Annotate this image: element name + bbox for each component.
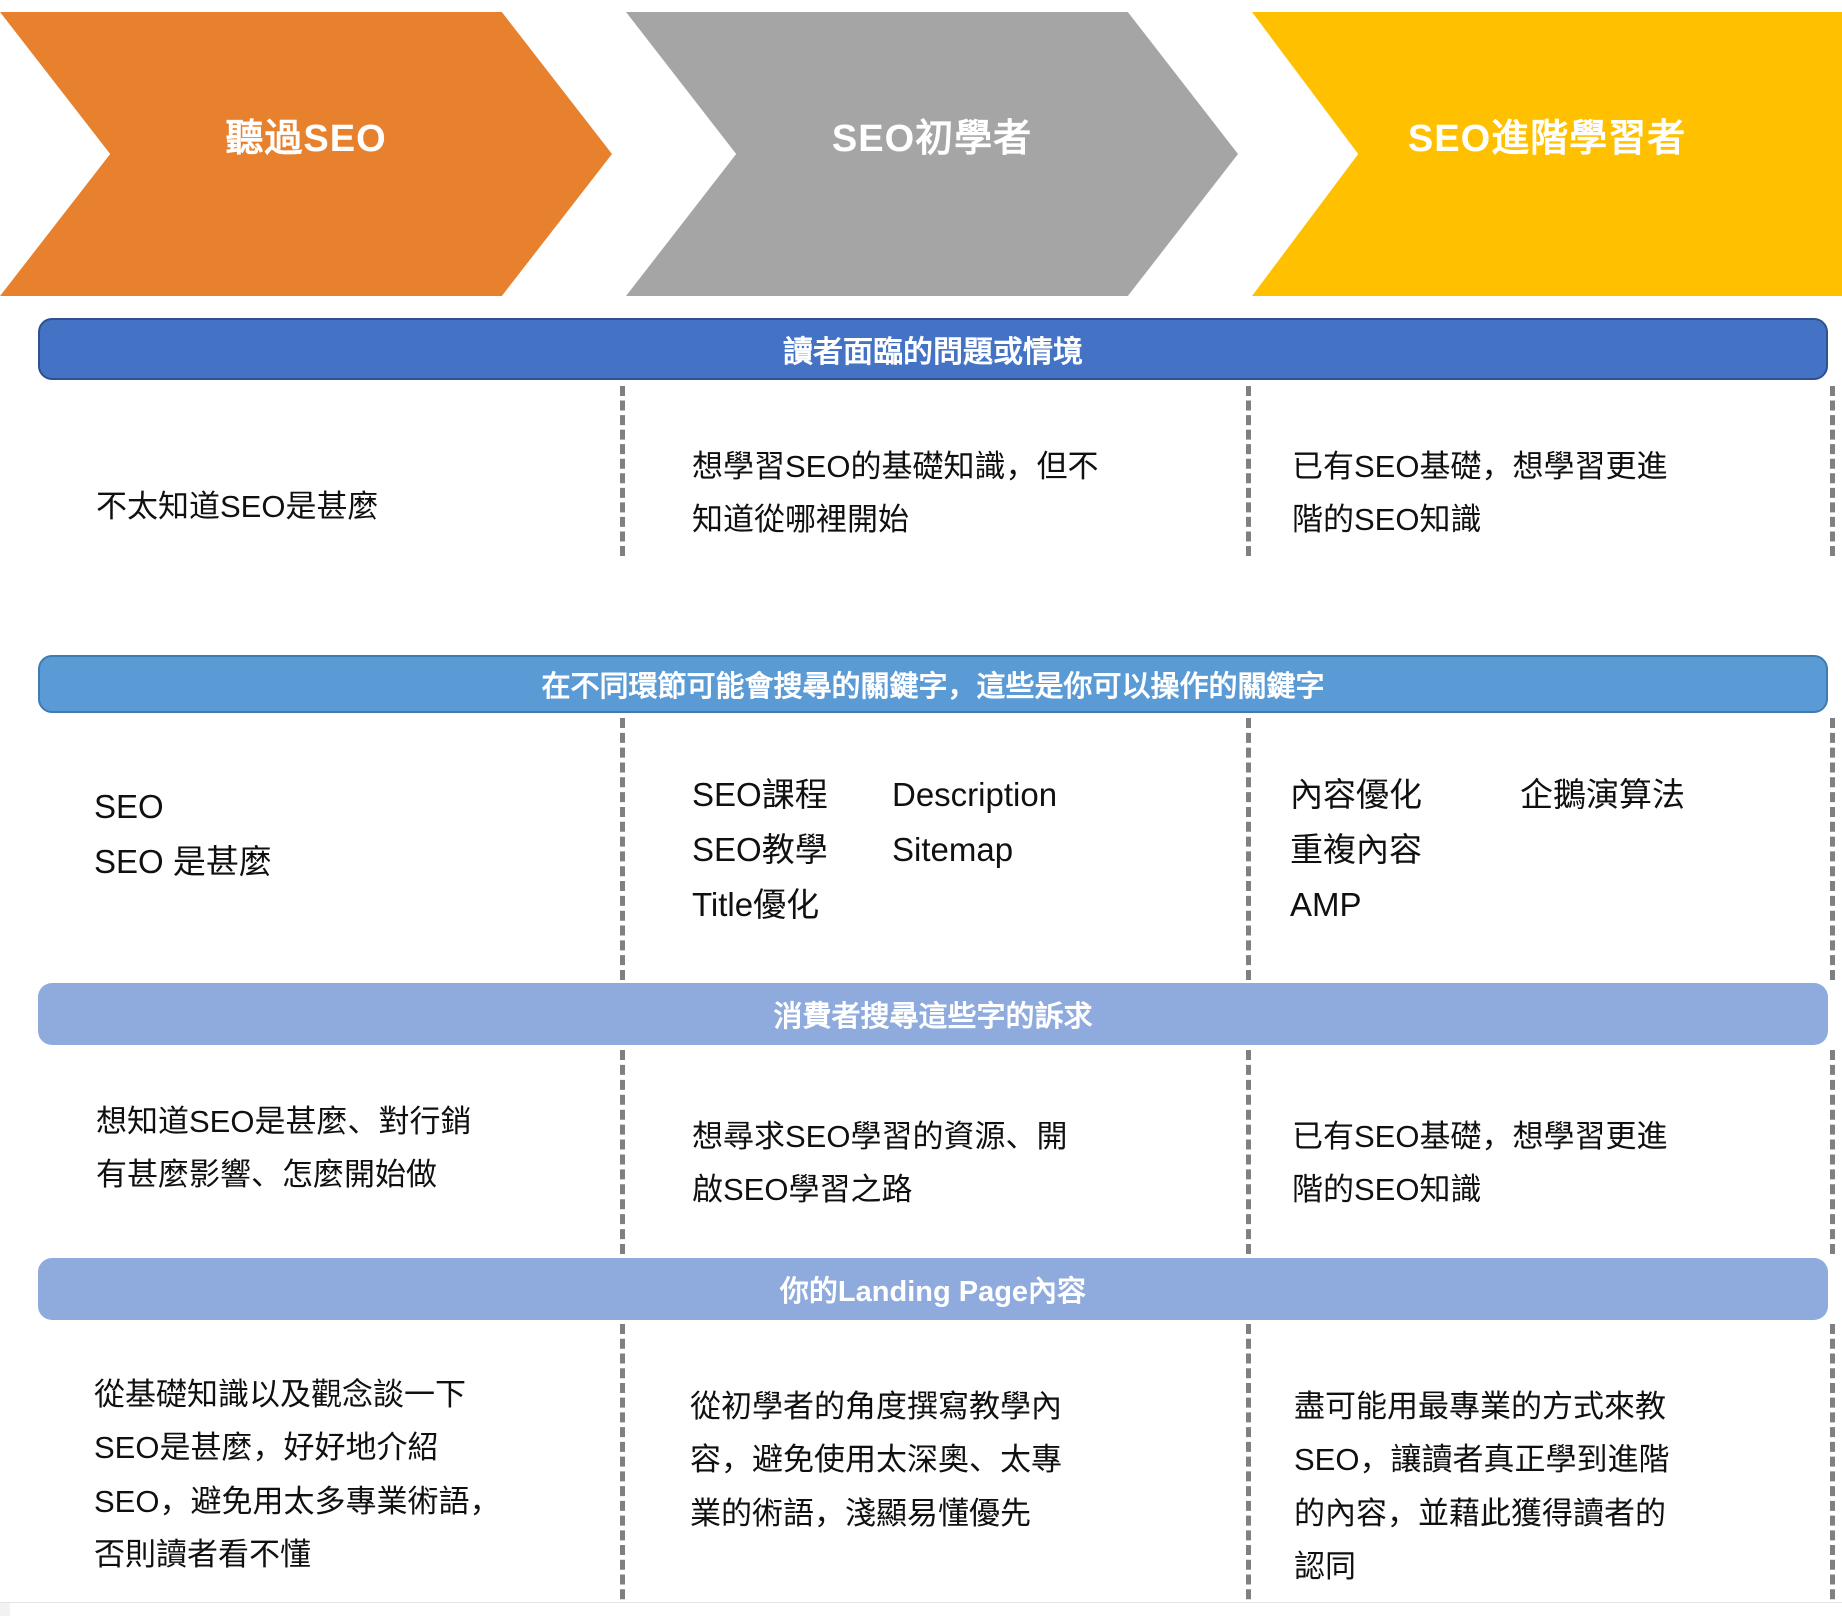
stage-chevron-1: 聽過SEO xyxy=(0,12,612,296)
cell-line: 容，避免使用太深奧、太專 xyxy=(690,1433,1246,1486)
column-divider xyxy=(620,718,625,980)
cell-line: 已有SEO基礎，想學習更進 xyxy=(1292,440,1842,493)
cell-line: 已有SEO基礎，想學習更進 xyxy=(1292,1110,1842,1163)
section-header-keywords: 在不同環節可能會搜尋的關鍵字，這些是你可以操作的關鍵字 xyxy=(38,655,1828,713)
stage-chevron-3: SEO進階學習者 xyxy=(1252,12,1842,296)
keyword: SEO課程 xyxy=(692,768,892,823)
section-header-problems-label: 讀者面臨的問題或情境 xyxy=(783,327,1083,371)
keyword: 企鵝演算法 xyxy=(1520,768,1685,823)
cell-line: 階的SEO知識 xyxy=(1292,1163,1842,1216)
keyword: SEO教學 xyxy=(692,823,892,878)
section-header-problems: 讀者面臨的問題或情境 xyxy=(38,318,1828,380)
stage-chevron-2-label: SEO初學者 xyxy=(832,107,1032,162)
cell-line: SEO，避免用太多專業術語， xyxy=(94,1475,620,1528)
keyword: 內容優化 xyxy=(1290,768,1520,823)
keyword-row: SEO xyxy=(94,780,324,835)
keyword-row: 內容優化 企鵝演算法 xyxy=(1290,768,1685,823)
section-header-intent: 消費者搜尋這些字的訴求 xyxy=(38,983,1828,1045)
cell-line: 啟SEO學習之路 xyxy=(692,1163,1246,1216)
section-header-keywords-label: 在不同環節可能會搜尋的關鍵字，這些是你可以操作的關鍵字 xyxy=(541,663,1324,705)
cell-landing-stage3: 盡可能用最專業的方式來教 SEO，讓讀者真正學到進階 的內容，並藉此獲得讀者的 … xyxy=(1246,1380,1842,1593)
cell-line: 從基礎知識以及觀念談一下 xyxy=(94,1368,620,1421)
cell-line: 從初學者的角度撰寫教學內 xyxy=(690,1380,1246,1433)
keyword: Title優化 xyxy=(692,878,892,933)
cell-line: 業的術語，淺顯易懂優先 xyxy=(690,1487,1246,1540)
section-header-landing-page-label: 你的Landing Page內容 xyxy=(780,1268,1086,1310)
cell-problems-stage1: 不太知道SEO是甚麼 xyxy=(0,480,620,533)
cell-line: 知道從哪裡開始 xyxy=(692,493,1246,546)
keyword: 重複內容 xyxy=(1290,823,1520,878)
stage-chevron-band: 聽過SEO SEO初學者 SEO進階學習者 xyxy=(0,0,1842,296)
cell-line: 盡可能用最專業的方式來教 xyxy=(1294,1380,1842,1433)
keyword-row: SEO 是甚麼 xyxy=(94,835,324,890)
section-header-intent-label: 消費者搜尋這些字的訴求 xyxy=(773,993,1092,1035)
keyword: SEO xyxy=(94,780,324,835)
bottom-edge-nub xyxy=(0,1603,10,1616)
column-divider xyxy=(1830,718,1835,980)
stage-chevron-1-label: 聽過SEO xyxy=(225,107,386,162)
keyword: SEO 是甚麼 xyxy=(94,835,324,890)
section-header-landing-page: 你的Landing Page內容 xyxy=(38,1258,1828,1320)
cell-line: 否則讀者看不懂 xyxy=(94,1528,620,1581)
cell-problems-stage2: 想學習SEO的基礎知識，但不 知道從哪裡開始 xyxy=(620,440,1246,547)
cell-line: 不太知道SEO是甚麼 xyxy=(96,480,620,533)
keyword: Sitemap xyxy=(892,823,1013,878)
cell-problems-stage3: 已有SEO基礎，想學習更進 階的SEO知識 xyxy=(1246,440,1842,547)
keyword: Description xyxy=(892,768,1057,823)
keywords-stage2: SEO課程 Description SEO教學 Sitemap Title優化 xyxy=(692,768,1057,932)
keyword-row: AMP xyxy=(1290,878,1685,933)
cell-line: 想尋求SEO學習的資源、開 xyxy=(692,1110,1246,1163)
cell-line: 階的SEO知識 xyxy=(1292,493,1842,546)
cell-landing-stage1: 從基礎知識以及觀念談一下 SEO是甚麼，好好地介紹 SEO，避免用太多專業術語，… xyxy=(0,1368,620,1581)
cell-landing-stage2: 從初學者的角度撰寫教學內 容，避免使用太深奧、太專 業的術語，淺顯易懂優先 xyxy=(620,1380,1246,1540)
keywords-stage3: 內容優化 企鵝演算法 重複內容 AMP xyxy=(1290,768,1685,932)
bottom-edge-strip xyxy=(0,1602,1842,1616)
cell-intent-stage3: 已有SEO基礎，想學習更進 階的SEO知識 xyxy=(1246,1110,1842,1217)
cell-line: 想知道SEO是甚麼、對行銷 xyxy=(96,1095,620,1148)
cell-line: 的內容，並藉此獲得讀者的 xyxy=(1294,1487,1842,1540)
cell-line: 有甚麼影響、怎麼開始做 xyxy=(96,1148,620,1201)
cell-line: SEO是甚麼，好好地介紹 xyxy=(94,1421,620,1474)
keyword: AMP xyxy=(1290,878,1520,933)
keyword-row: SEO教學 Sitemap xyxy=(692,823,1057,878)
keyword-row: 重複內容 xyxy=(1290,823,1685,878)
cell-intent-stage1: 想知道SEO是甚麼、對行銷 有甚麼影響、怎麼開始做 xyxy=(0,1095,620,1202)
column-divider xyxy=(1246,718,1251,980)
keyword-row: SEO課程 Description xyxy=(692,768,1057,823)
cell-line: 想學習SEO的基礎知識，但不 xyxy=(692,440,1246,493)
seo-funnel-diagram: 聽過SEO SEO初學者 SEO進階學習者 讀者面臨的問題或情境 不太知道SEO… xyxy=(0,0,1842,1616)
cell-intent-stage2: 想尋求SEO學習的資源、開 啟SEO學習之路 xyxy=(620,1110,1246,1217)
stage-chevron-3-label: SEO進階學習者 xyxy=(1408,107,1686,162)
cell-line: SEO，讓讀者真正學到進階 xyxy=(1294,1433,1842,1486)
cell-line: 認同 xyxy=(1294,1540,1842,1593)
keywords-stage1: SEO SEO 是甚麼 xyxy=(94,780,324,890)
keyword-row: Title優化 xyxy=(692,878,1057,933)
stage-chevron-2: SEO初學者 xyxy=(626,12,1238,296)
